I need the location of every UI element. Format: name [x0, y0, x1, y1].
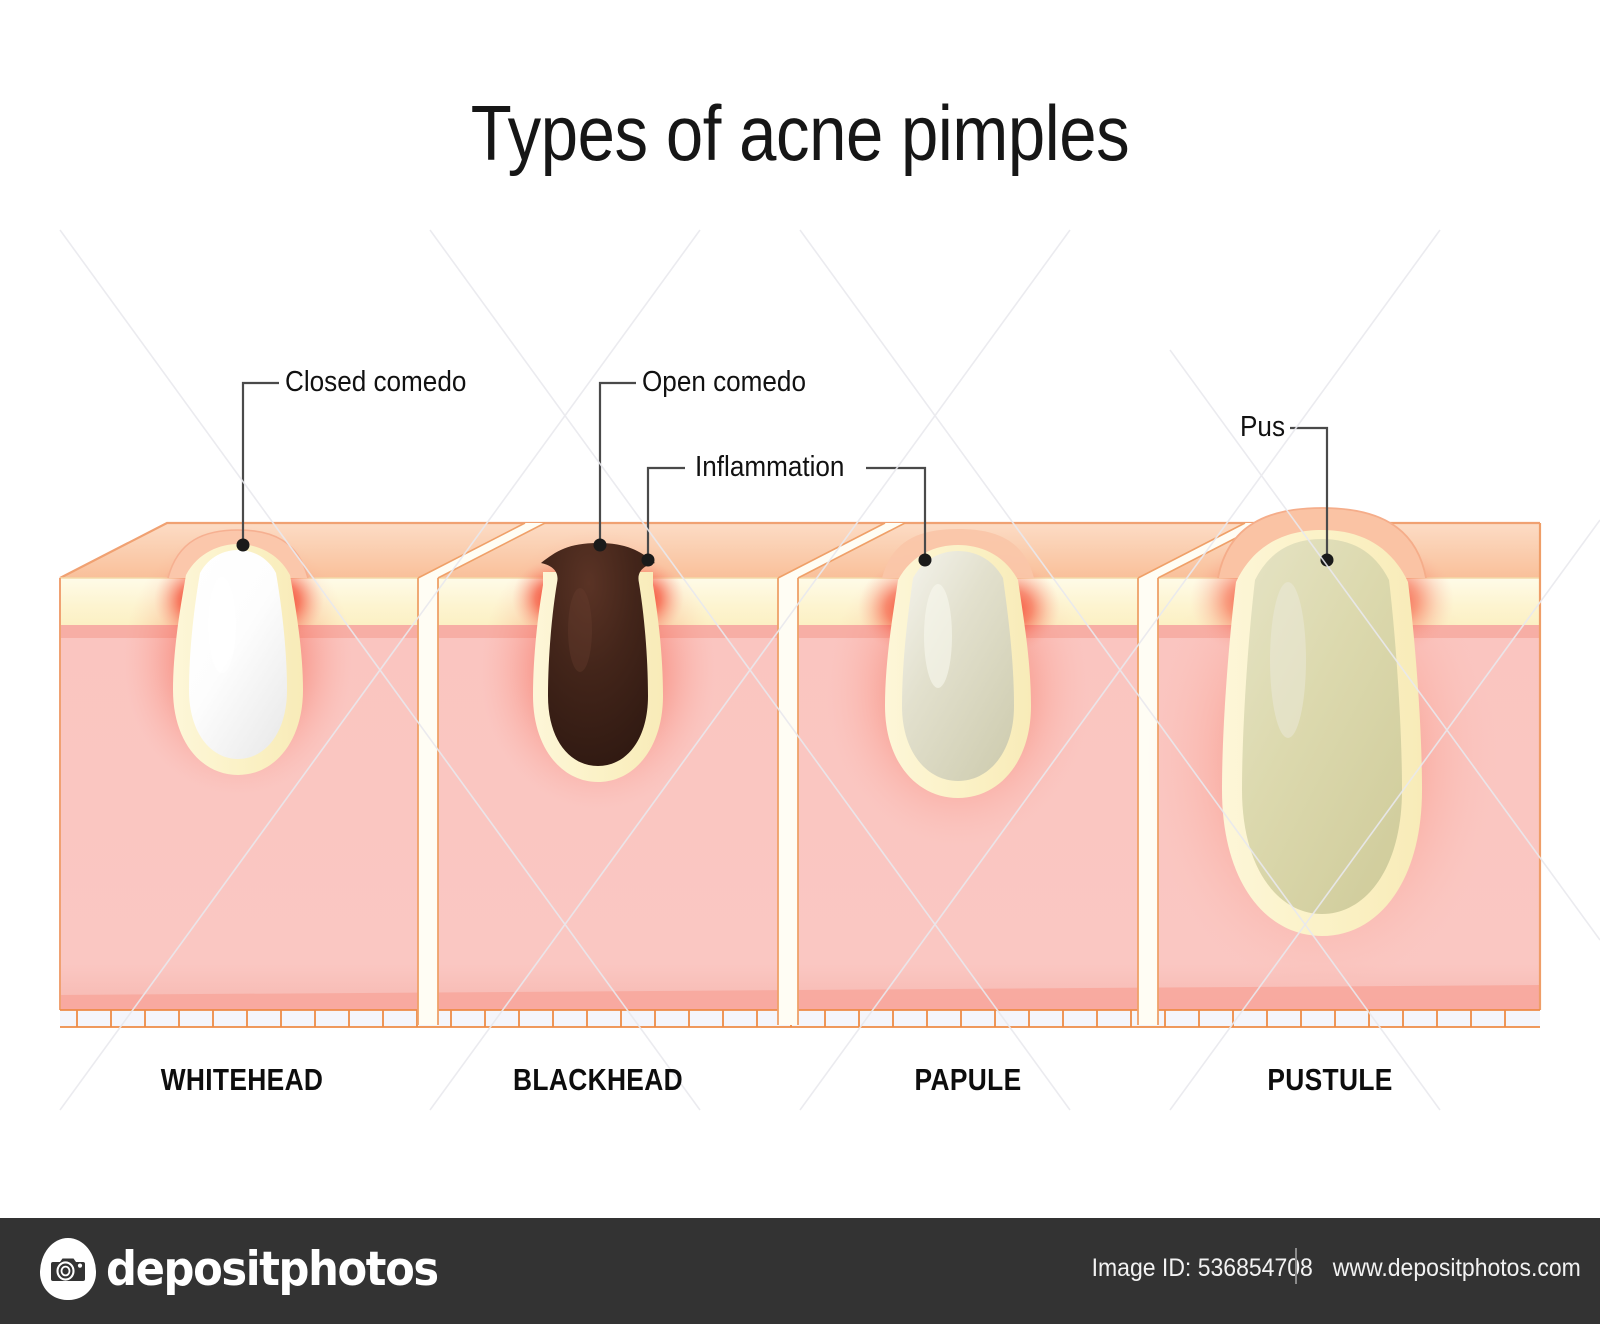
lesion-pustule: [1147, 508, 1497, 995]
subcutaneous-fat-layer: [60, 1010, 1540, 1027]
footer-divider: [1295, 1248, 1297, 1284]
callout-label-closed-comedo: Closed comedo: [285, 366, 466, 399]
camera-icon: [40, 1238, 96, 1300]
category-label-pustule: PUSTULE: [1203, 1062, 1458, 1098]
leader-dot-open-comedo: [594, 539, 607, 552]
category-label-papule: PAPULE: [841, 1062, 1096, 1098]
callout-label-open-comedo: Open comedo: [642, 366, 806, 399]
comedo-core-whitehead: [189, 550, 287, 759]
callout-label-pus: Pus: [1164, 411, 1286, 444]
category-label-whitehead: WHITEHEAD: [115, 1062, 370, 1098]
leader-dot-closed-comedo: [237, 539, 250, 552]
depositphotos-logo: depositphotos: [40, 1238, 467, 1300]
image-id-text: Image ID: 536854708: [1092, 1254, 1313, 1283]
illustration-root: Types of acne pimples: [0, 0, 1600, 1324]
leader-open-comedo: [600, 383, 636, 545]
skin-cross-section-diagram: [0, 0, 1600, 1324]
brand-name: depositphotos: [106, 1242, 438, 1297]
callout-label-inflammation: Inflammation: [695, 451, 844, 484]
comedo-core-papule: [902, 551, 1014, 781]
camera-icon-glyph: [51, 1256, 85, 1283]
leader-dot-inflammation-left: [642, 554, 655, 567]
category-label-blackhead: BLACKHEAD: [471, 1062, 726, 1098]
leader-dot-inflammation-right: [919, 554, 932, 567]
comedo-core-blackhead: [541, 543, 655, 766]
lesion-blackhead: [480, 530, 716, 810]
leader-closed-comedo: [243, 383, 279, 545]
pus-core-pustule: [1242, 539, 1402, 914]
website-text: www.depositphotos.com: [1333, 1254, 1581, 1283]
